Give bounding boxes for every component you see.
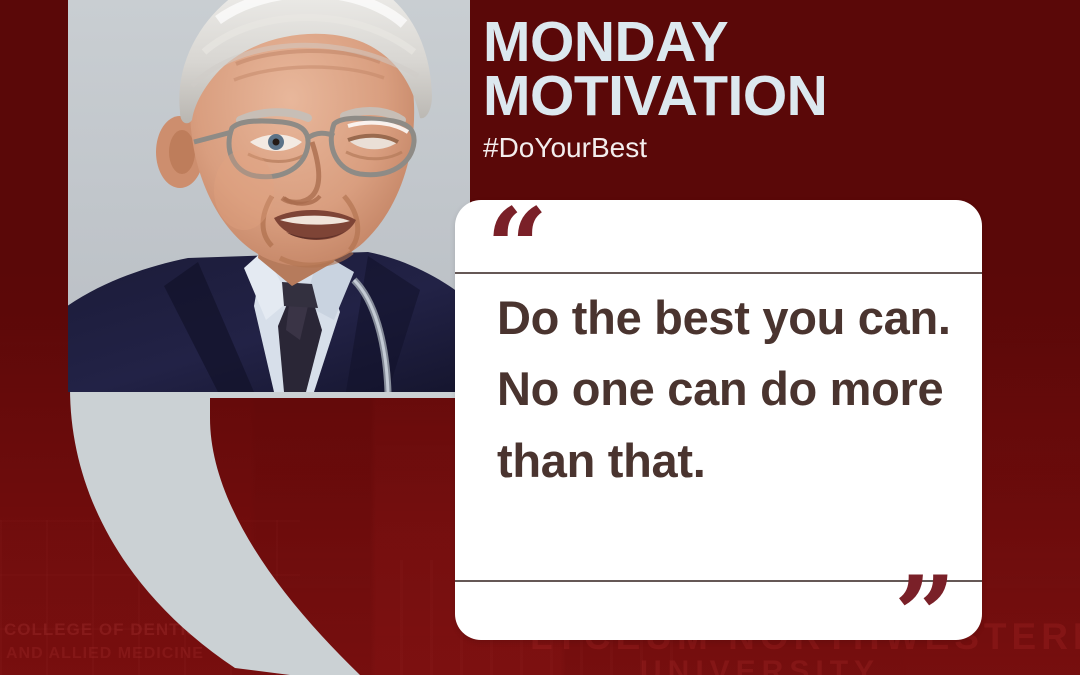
headline-line-1: MONDAY bbox=[483, 16, 1043, 70]
quote-text: Do the best you can. No one can do more … bbox=[497, 282, 952, 496]
hashtag-label: #DoYourBest bbox=[483, 132, 1043, 164]
portrait-photo bbox=[68, 0, 470, 392]
headline-line-2: MOTIVATION bbox=[483, 70, 1043, 124]
quote-card: “ Do the best you can. No one can do mor… bbox=[455, 200, 982, 640]
poster-canvas: LYCEUM NORTHWESTERN UNIVERSITY COLLEGE O… bbox=[0, 0, 1080, 675]
quote-divider-top bbox=[455, 272, 982, 274]
headline-block: MONDAY MOTIVATION #DoYourBest bbox=[483, 16, 1043, 164]
closing-quote-icon: ” bbox=[894, 562, 954, 640]
